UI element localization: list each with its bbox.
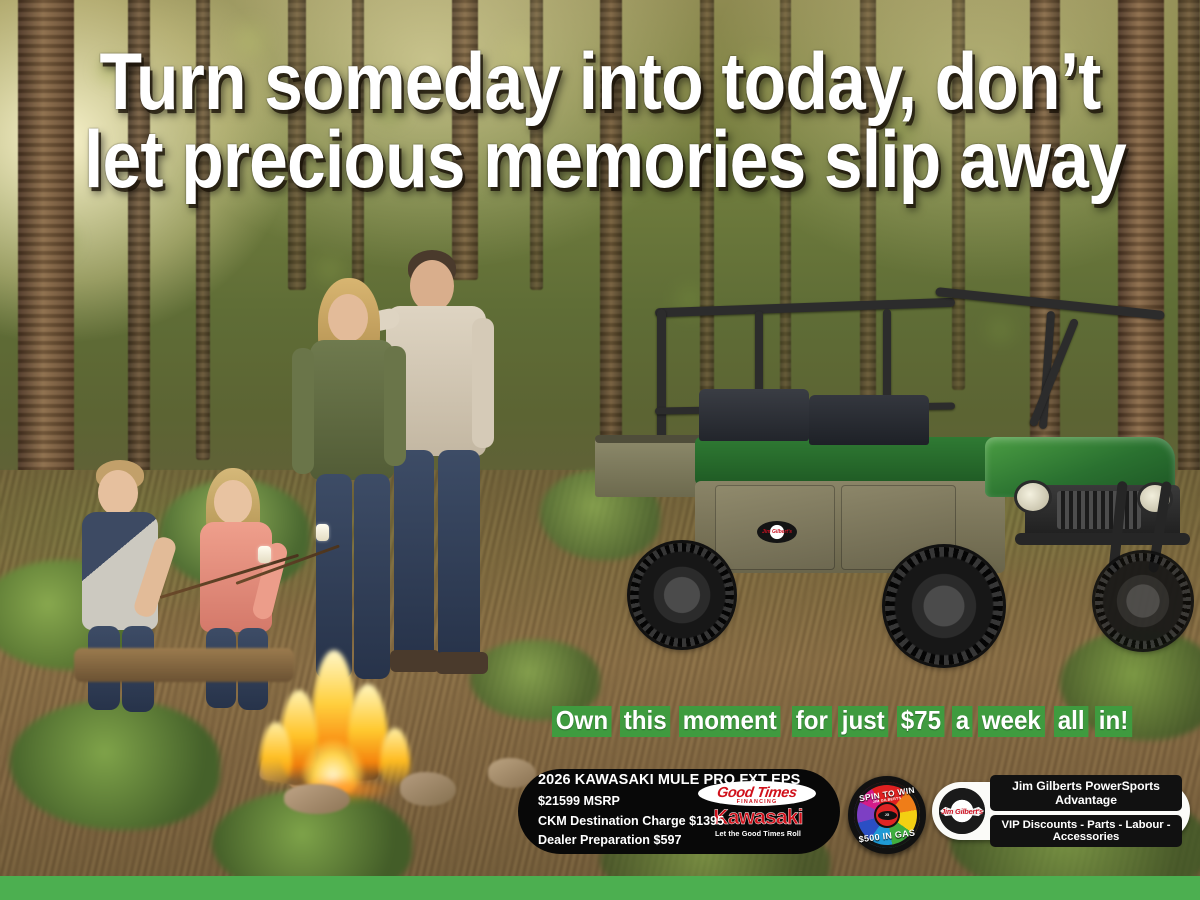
offer-word: for: [792, 706, 832, 737]
prize-wheel: SPIN TO WIN JIM GILBERTS JG $500 IN GAS: [854, 782, 920, 848]
dealer-benefits-line: VIP Discounts - Parts - Labour -Accessor…: [990, 815, 1182, 847]
head: [214, 480, 252, 524]
tire-tread: [1095, 553, 1191, 649]
jim-gilberts-vehicle-decal: Jim Gilbert's: [757, 521, 797, 543]
rear-seat: [699, 389, 809, 441]
leg-jeans: [354, 474, 390, 679]
offer-word: this: [620, 706, 670, 737]
mother-figure: [300, 282, 410, 692]
offer-word: a: [952, 706, 973, 737]
windshield-frame: [1029, 318, 1079, 428]
front-seat: [809, 395, 929, 445]
dealer-advantage-line: Jim Gilberts PowerSports Advantage: [990, 775, 1182, 811]
arm: [384, 346, 406, 466]
rear-wheel: [630, 543, 734, 647]
wheel-hub: JG: [874, 802, 900, 828]
front-wheel: [885, 547, 1003, 665]
arm: [292, 348, 314, 474]
offer-word: just: [838, 706, 888, 737]
decal-text: Jim Gilbert's: [762, 529, 792, 535]
jim-gilberts-logo-text: Jim Gilbert's: [941, 807, 983, 816]
hub-logo: JG: [878, 811, 897, 820]
tree-trunk: [18, 0, 74, 510]
headline-line-2: let precious memories slip away: [84, 122, 1116, 200]
headline: Turn someday into today, don’t let preci…: [84, 44, 1116, 200]
arm: [472, 318, 494, 448]
offer-word: $75: [897, 706, 945, 737]
roll-cage-bar: [655, 298, 955, 317]
spec-text-block: 2026 KAWASAKI MULE PRO FXT EPS $21599 MS…: [518, 772, 800, 850]
offer-word: all: [1054, 706, 1088, 737]
boot: [436, 652, 488, 674]
far-front-wheel: [1095, 553, 1191, 649]
offer-word: week: [978, 706, 1045, 737]
log-bench: [74, 648, 294, 682]
offer-word: in!: [1095, 706, 1132, 737]
kawasaki-mule-utv: Jim Gilbert's: [595, 285, 1195, 675]
spec-line-msrp: $21599 MSRP: [538, 792, 800, 811]
leg-jeans: [438, 450, 480, 662]
head: [328, 294, 368, 342]
spec-line-destination: CKM Destination Charge $1395: [538, 812, 800, 831]
vehicle-model-title: 2026 KAWASAKI MULE PRO FXT EPS: [538, 772, 800, 788]
spec-line-dealer-prep: Dealer Preparation $597: [538, 831, 800, 850]
dealer-advantage-badge[interactable]: Jim Gilbert's Jim Gilberts PowerSports A…: [932, 782, 1190, 840]
fire-ring-rock: [234, 774, 292, 808]
vehicle-spec-panel: 2026 KAWASAKI MULE PRO FXT EPS $21599 MS…: [518, 769, 840, 854]
dealer-text-lines: Jim Gilberts PowerSports Advantage VIP D…: [985, 775, 1182, 847]
advertisement-canvas: Jim Gilbert's: [0, 0, 1200, 900]
torso-shirt: [310, 340, 394, 480]
head: [98, 470, 138, 516]
head: [410, 260, 454, 312]
front-grille: [1057, 491, 1141, 529]
tire-tread: [885, 547, 1003, 665]
fire-ring-rock: [344, 782, 406, 814]
fire-ring-rock: [284, 784, 350, 814]
roll-cage-bar: [657, 309, 666, 439]
jim-gilberts-logo: Jim Gilbert's: [939, 788, 985, 834]
offer-word: Own: [552, 706, 612, 737]
tire-tread: [630, 543, 734, 647]
campfire: [240, 700, 540, 820]
leg-jeans: [316, 474, 352, 679]
footer-bar: [0, 876, 1200, 900]
marshmallow: [258, 546, 271, 563]
offer-banner: Ownthismomentforjust$75aweekallin!: [552, 706, 1172, 737]
spin-to-win-wheel-badge[interactable]: SPIN TO WIN JIM GILBERTS JG $500 IN GAS: [848, 776, 926, 854]
offer-word: moment: [679, 706, 780, 737]
headline-line-1: Turn someday into today, don’t: [99, 37, 1100, 127]
marshmallow: [316, 524, 329, 541]
headlight: [1017, 483, 1049, 511]
